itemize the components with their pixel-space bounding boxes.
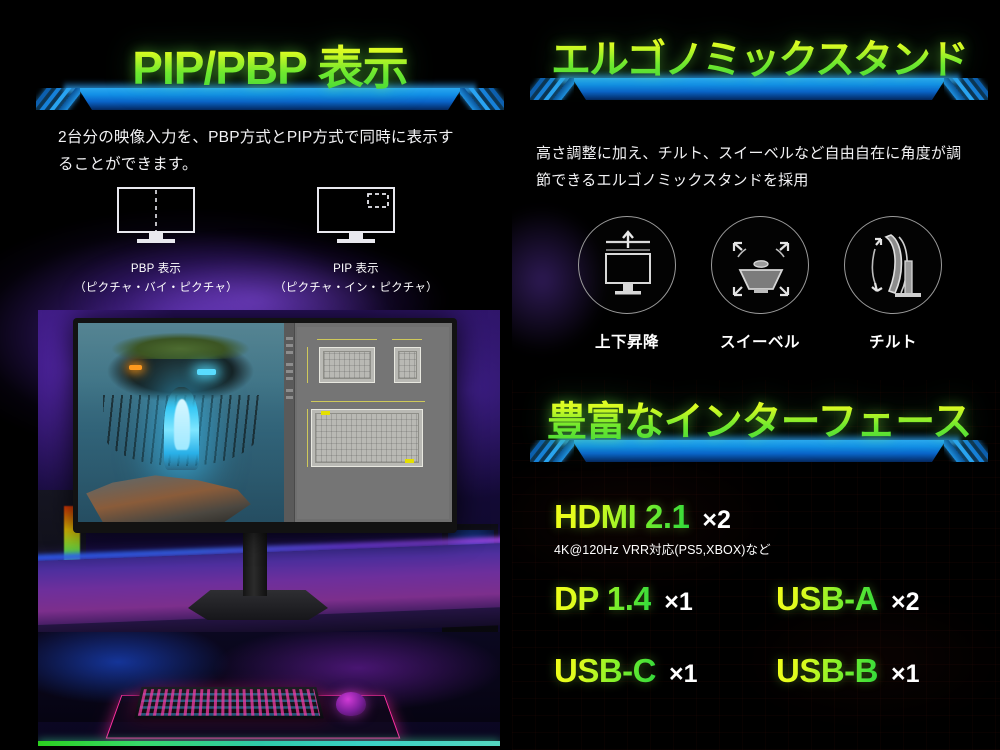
pip-pbp-heading-block: PIP/PBP 表示: [36, 40, 504, 110]
tilt-icon: [844, 216, 942, 314]
mode-pbp-label: PBP 表示 （ピクチャ・バイ・ピクチャ）: [56, 260, 256, 298]
interface-heading: 豊富なインターフェース: [530, 396, 988, 448]
cad-dim-line: [392, 339, 422, 340]
height-adjust-icon: [578, 216, 676, 314]
left-panel-pip-pbp: PIP/PBP 表示 2台分の映像入力を、PBP方式とPIP方式で同時に表示する…: [0, 0, 512, 750]
rgb-mouse: [336, 692, 366, 716]
product-photo: [38, 310, 500, 746]
cad-plan-1: [319, 347, 375, 383]
interface-heading-block: 豊富なインターフェース: [530, 396, 988, 462]
port-item-usba: USB-A ×2: [776, 580, 920, 618]
ergo-feature-swivel: スイーベル: [703, 216, 817, 352]
mode-pbp-title: PBP 表示: [131, 263, 181, 275]
mode-pip: PIP 表示 （ピクチャ・イン・ピクチャ）: [256, 186, 456, 298]
pip-pbp-heading: PIP/PBP 表示: [36, 40, 504, 96]
port-item-usbb: USB-B ×1: [776, 652, 920, 690]
cad-plan-2: [394, 347, 421, 383]
game-blue-light: [197, 369, 216, 375]
game-energy-core-inner: [174, 399, 190, 451]
keyboard-keys: [138, 689, 320, 716]
screen-right-cad-content: [284, 323, 452, 522]
swivel-icon: [711, 216, 809, 314]
monitor-split-icon: [115, 186, 197, 253]
port-item-usbc: USB-C ×1: [554, 652, 776, 690]
mode-pip-subtitle: （ピクチャ・イン・ピクチャ）: [274, 282, 438, 294]
ergo-feature-height: 上下昇降: [570, 216, 684, 352]
display-mode-row: PBP 表示 （ピクチャ・バイ・ピクチャ） PIP 表示 （ピクチャ・イン・ピク…: [56, 186, 456, 298]
port-hdmi-qty: ×2: [702, 506, 731, 535]
cad-tag: [405, 459, 414, 463]
cad-dim-line: [311, 401, 425, 402]
cad-dim-line: [307, 347, 308, 383]
rgb-keyboard: [134, 687, 324, 719]
port-dp-qty: ×1: [664, 588, 693, 617]
monitor-neck: [243, 532, 267, 596]
port-list: HDMI 2.1 ×2 4K@120Hz VRR対応(PS5,XBOX)など D…: [554, 498, 984, 690]
mode-pip-label: PIP 表示 （ピクチャ・イン・ピクチャ）: [256, 260, 456, 298]
port-dp-name: DP 1.4: [554, 580, 651, 618]
mode-pbp: PBP 表示 （ピクチャ・バイ・ピクチャ）: [56, 186, 256, 298]
ergonomic-lead-text: 高さ調整に加え、チルト、スイーベルなど自由自在に角度が調節できるエルゴノミックス…: [536, 140, 976, 194]
cad-tag: [321, 411, 330, 415]
ergo-feature-height-label: 上下昇降: [570, 330, 684, 352]
port-hdmi-note: 4K@120Hz VRR対応(PS5,XBOX)など: [554, 539, 984, 558]
ergo-feature-tilt: チルト: [836, 216, 950, 352]
pip-pbp-lead-text: 2台分の映像入力を、PBP方式とPIP方式で同時に表示することができます。: [58, 124, 458, 178]
photo-accent-line: [38, 741, 500, 746]
cad-dim-line: [317, 339, 377, 340]
promo-slide: PIP/PBP 表示 2台分の映像入力を、PBP方式とPIP方式で同時に表示する…: [0, 0, 1000, 750]
port-item-dp: DP 1.4 ×1: [554, 580, 776, 618]
ergo-feature-swivel-label: スイーベル: [703, 330, 817, 352]
port-usbb-qty: ×1: [891, 660, 920, 689]
port-usbc-qty: ×1: [669, 660, 698, 689]
right-panel-features: エルゴノミックスタンド 高さ調整に加え、チルト、スイーベルなど自由自在に角度が調…: [512, 0, 1000, 750]
port-row-dp-usba: DP 1.4 ×1 USB-A ×2: [554, 580, 984, 618]
monitor-bezel: [73, 318, 457, 533]
port-row-hdmi: HDMI 2.1 ×2: [554, 498, 984, 536]
mode-pip-title: PIP 表示: [333, 263, 379, 275]
ergonomic-feature-row: 上下昇降 スイーベル: [570, 216, 950, 352]
ergo-feature-tilt-label: チルト: [836, 330, 950, 352]
screen-left-game-content: [78, 323, 284, 522]
monitor-inset-icon: [315, 186, 397, 253]
port-usbb-name: USB-B: [776, 652, 878, 690]
ergonomic-heading-block: エルゴノミックスタンド: [530, 34, 988, 100]
port-hdmi-name: HDMI 2.1: [554, 498, 689, 536]
game-orange-light: [129, 365, 141, 370]
port-usbc-name: USB-C: [554, 652, 656, 690]
cad-dim-line: [307, 409, 308, 467]
port-usba-name: USB-A: [776, 580, 878, 618]
ergonomic-heading: エルゴノミックスタンド: [530, 34, 988, 86]
port-row-usbc-usbb: USB-C ×1 USB-B ×1: [554, 652, 984, 690]
cad-canvas: [297, 327, 449, 519]
mode-pbp-subtitle: （ピクチャ・バイ・ピクチャ）: [74, 282, 238, 294]
monitor-screen: [78, 323, 452, 522]
port-usba-qty: ×2: [891, 588, 920, 617]
cad-toolbar: [284, 323, 295, 522]
